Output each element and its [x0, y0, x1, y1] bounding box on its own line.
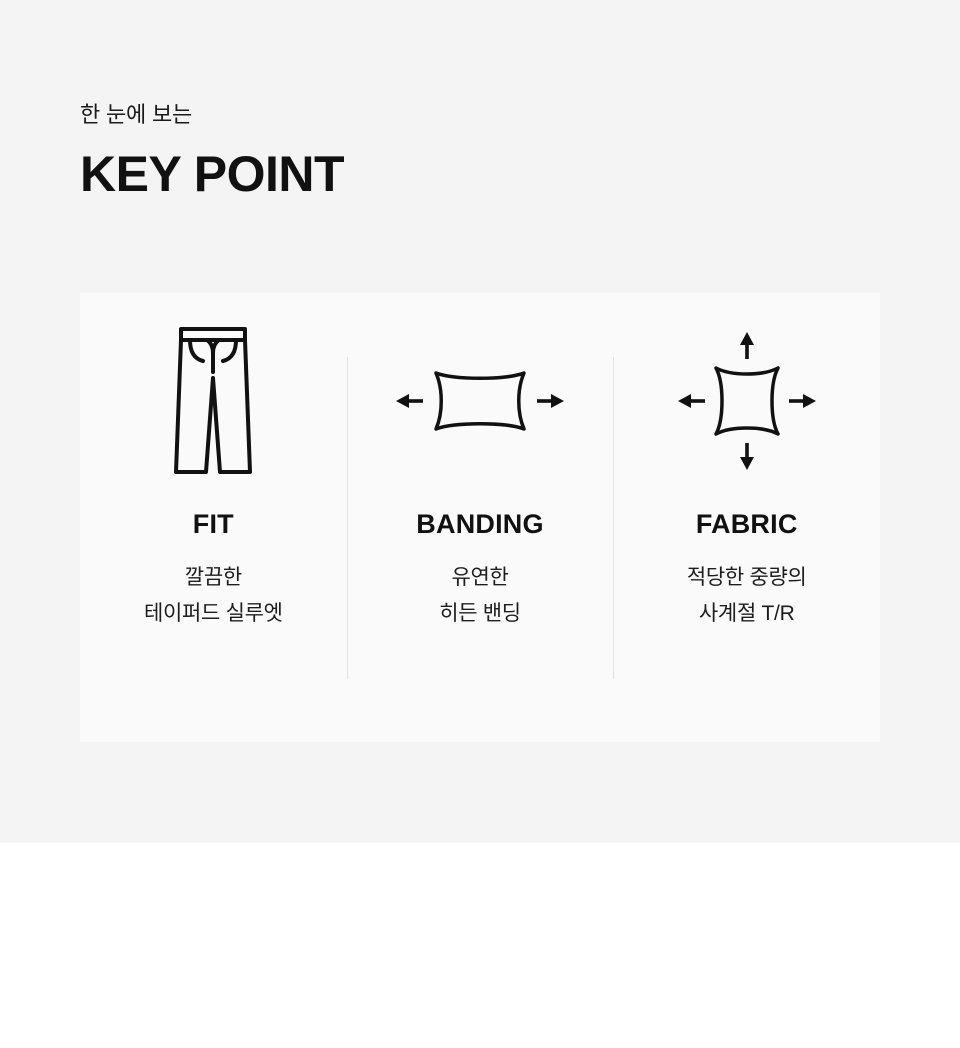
- page-title: KEY POINT: [80, 146, 680, 202]
- key-point-card: FIT 깔끔한 테이퍼드 실루엣: [80, 293, 880, 742]
- key-point-column-fit: FIT 깔끔한 테이퍼드 실루엣: [80, 293, 347, 742]
- pants-icon: [80, 293, 347, 508]
- section-eyebrow: 한 눈에 보는: [80, 100, 680, 130]
- key-point-title: FIT: [193, 508, 234, 540]
- key-point-description: 깔끔한 테이퍼드 실루엣: [144, 560, 283, 632]
- key-point-column-fabric: FABRIC 적당한 중량의 사계절 T/R: [613, 293, 880, 742]
- key-point-description: 적당한 중량의 사계절 T/R: [687, 560, 807, 632]
- key-point-title: FABRIC: [696, 508, 798, 540]
- key-point-title: BANDING: [416, 508, 543, 540]
- key-point-description: 유연한 히든 밴딩: [439, 560, 521, 632]
- section-heading: 한 눈에 보는 KEY POINT: [80, 100, 680, 202]
- key-point-section: 한 눈에 보는 KEY POINT: [0, 0, 960, 1048]
- key-point-column-banding: BANDING 유연한 히든 밴딩: [347, 293, 614, 742]
- horizontal-stretch-icon: [347, 293, 614, 508]
- four-way-stretch-icon: [613, 293, 880, 508]
